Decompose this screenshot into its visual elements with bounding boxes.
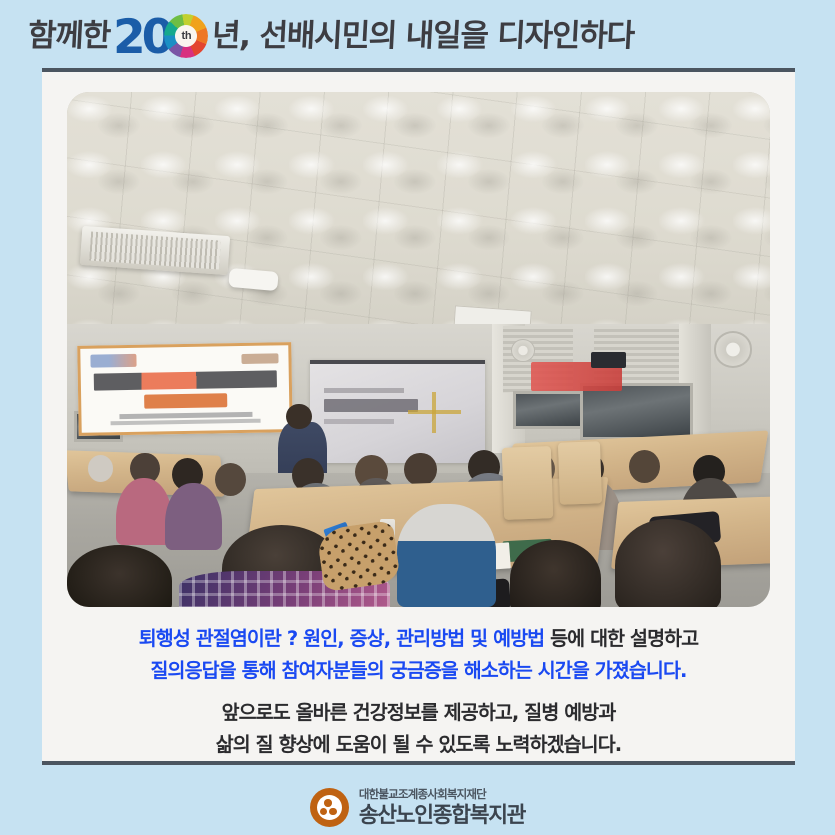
caption-line-1-rest: 등에 대한 설명하고 (544, 627, 698, 650)
photo-front-person-head (615, 519, 720, 607)
header-title-group: 함께한 20 th 년, 선배시민의 내일을 디자인하다 (28, 12, 634, 60)
banner-title-text (93, 371, 277, 391)
page-header: 함께한 20 th 년, 선배시민의 내일을 디자인하다 (0, 0, 835, 68)
caption-line-3: 앞으로도 올바른 건강정보를 제공하고, 질병 예방과 (67, 697, 770, 729)
content-card: 퇴행성 관절염이란 ? 원인, 증상, 관리방법 및 예방법 등에 대한 설명하… (42, 68, 795, 765)
banner-badge (143, 394, 227, 410)
header-text-after: 년, 선배시민의 내일을 디자인하다 (212, 21, 635, 52)
screen-heading (324, 388, 405, 394)
anniversary-20th-logo: 20 th (113, 12, 208, 60)
footer-organization: 대한불교조계종사회복지재단 (359, 789, 525, 801)
footer-center-name: 송산노인종합복지관 (359, 805, 525, 827)
photo-audience-body (165, 483, 221, 550)
banner-subtitle (118, 413, 251, 420)
caption-block: 퇴행성 관절염이란 ? 원인, 증상, 관리방법 및 예방법 등에 대한 설명하… (67, 621, 770, 761)
header-text-before: 함께한 (27, 21, 111, 52)
caption-line-1-highlight: 퇴행성 관절염이란 ? 원인, 증상, 관리방법 및 예방법 (139, 627, 544, 650)
photo-presenter-head (286, 404, 311, 430)
banner-subtitle (110, 419, 260, 425)
photo-wall-clock (591, 352, 626, 367)
photo-audience-head (404, 453, 436, 487)
logo-dot (329, 808, 337, 816)
banner-logo-left (90, 354, 136, 368)
caption-line-4: 삶의 질 향상에 도움이 될 수 있도록 노력하겠습니다. (67, 729, 770, 761)
footer-text-group: 대한불교조계종사회복지재단 송산노인종합복지관 (359, 789, 525, 826)
anniversary-ring-icon: th (164, 14, 208, 58)
anniversary-digit-2: 20 (113, 14, 170, 61)
event-photo (67, 92, 770, 607)
photo-audience-head (215, 463, 246, 496)
photo-wall-fan (714, 331, 753, 367)
screen-title-text (324, 399, 419, 412)
photo-ceiling-lamp (228, 268, 279, 291)
logo-dot (324, 799, 332, 807)
photo-ceiling (67, 92, 770, 334)
screen-graphic (408, 392, 461, 434)
photo-chair (558, 441, 602, 504)
photo-stage-banner (77, 342, 293, 436)
organization-logo-icon (310, 788, 349, 827)
photo-front-person-capwearer (397, 504, 495, 607)
page-footer: 대한불교조계종사회복지재단 송산노인종합복지관 (0, 780, 835, 835)
caption-line-2: 질의응답을 통해 참여자분들의 궁금증을 해소하는 시간을 가졌습니다. (67, 655, 770, 687)
caption-line-1: 퇴행성 관절염이란 ? 원인, 증상, 관리방법 및 예방법 등에 대한 설명하… (67, 623, 770, 655)
screen-subtitle-text (324, 419, 394, 424)
photo-chair (502, 447, 554, 521)
photo-audience-head (88, 455, 113, 482)
photo-window (513, 391, 583, 430)
photo-projector-screen (310, 360, 486, 463)
banner-logo-right (240, 353, 278, 364)
photo-window (580, 383, 692, 440)
photo-audience-head (629, 450, 660, 483)
